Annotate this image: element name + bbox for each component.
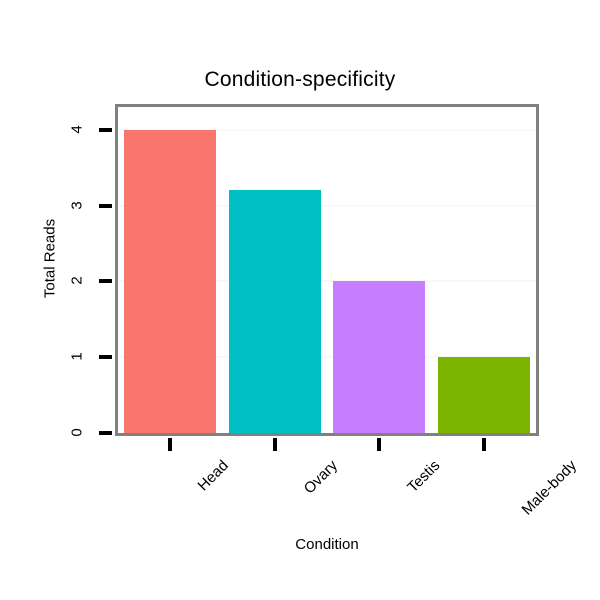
y-axis-tick-label: 3 bbox=[69, 195, 86, 215]
x-axis-tick bbox=[273, 438, 277, 451]
y-axis-tick bbox=[99, 128, 112, 132]
x-axis-tick-label: Testis bbox=[404, 457, 443, 496]
bar-chart: Condition-specificity 01234 HeadOvaryTes… bbox=[0, 0, 600, 600]
plot-panel bbox=[115, 104, 539, 436]
y-axis-tick bbox=[99, 355, 112, 359]
x-axis-tick-label: Head bbox=[195, 457, 232, 494]
bar-head[interactable] bbox=[124, 130, 216, 433]
x-axis-title: Condition bbox=[115, 536, 539, 553]
y-axis-tick-label: 0 bbox=[69, 423, 86, 443]
x-axis-tick bbox=[377, 438, 381, 451]
y-axis-tick bbox=[99, 279, 112, 283]
x-axis-tick bbox=[482, 438, 486, 451]
y-axis-tick-label: 1 bbox=[69, 347, 86, 367]
bar-ovary[interactable] bbox=[229, 190, 321, 433]
x-axis-tick bbox=[168, 438, 172, 451]
x-axis-tick-label: Male-body bbox=[518, 457, 580, 519]
chart-title: Condition-specificity bbox=[0, 68, 600, 92]
y-axis-tick-label: 2 bbox=[69, 271, 86, 291]
plot-area bbox=[118, 107, 536, 433]
y-axis-tick bbox=[99, 204, 112, 208]
x-axis-tick-label: Ovary bbox=[300, 457, 340, 497]
y-axis-tick-label: 4 bbox=[69, 119, 86, 139]
y-axis-title: Total Reads bbox=[42, 189, 59, 329]
bar-male-body[interactable] bbox=[438, 357, 530, 433]
bar-testis[interactable] bbox=[333, 281, 425, 433]
y-axis-tick bbox=[99, 431, 112, 435]
